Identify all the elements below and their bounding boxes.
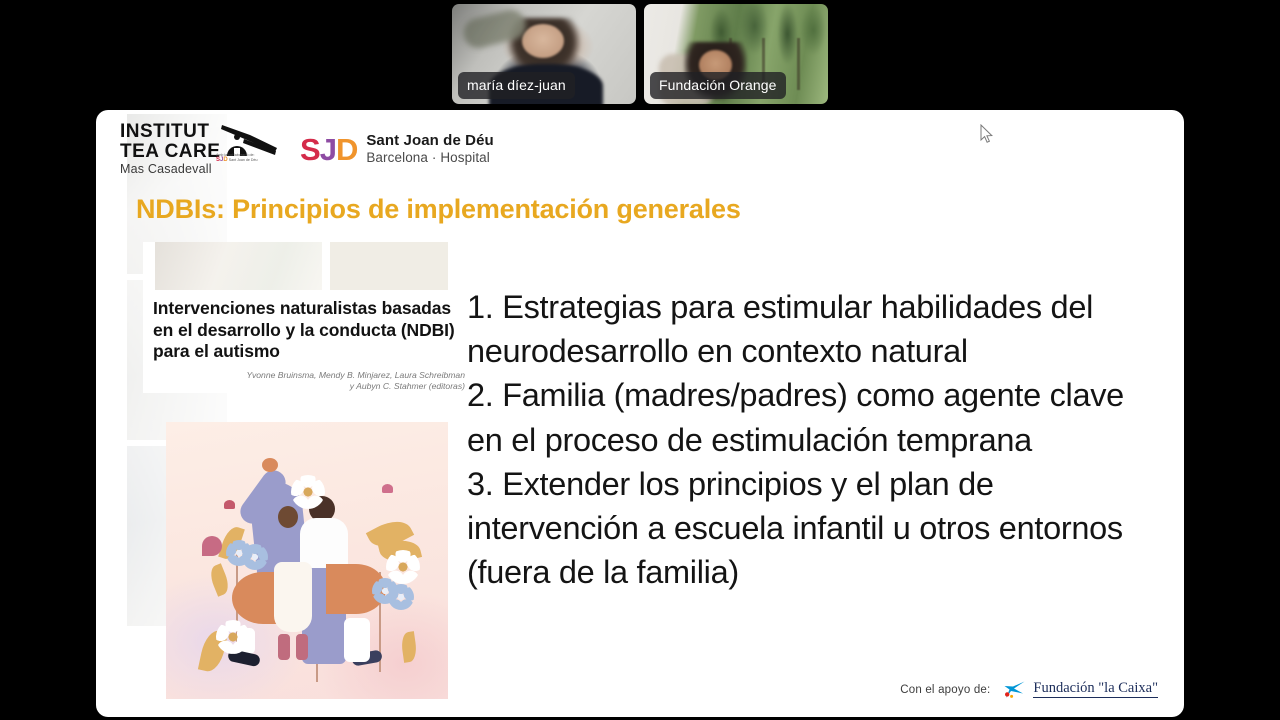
flower-icon <box>216 620 250 654</box>
caixa-star-icon <box>1003 680 1026 699</box>
book-photo-right <box>330 242 448 290</box>
caixa-wordmark: Fundación "la Caixa" <box>1033 681 1158 699</box>
flower-icon <box>291 475 325 509</box>
bullet-item-1: 1. Estrategias para estimular habilidade… <box>467 285 1155 373</box>
mouse-cursor-icon <box>980 124 994 144</box>
participant-name-label: maría díez-juan <box>458 72 575 99</box>
slide-title: NDBIs: Principios de implementación gene… <box>136 194 741 225</box>
video-tile-maria-diez-juan[interactable]: maría díez-juan <box>452 4 636 104</box>
figure-adult-right-leg-white <box>344 618 370 662</box>
book-title: Intervenciones naturalistas basadas en e… <box>143 290 469 363</box>
book-authors-line1: Yvonne Bruinsma, Mendy B. Minjarez, Laur… <box>143 370 465 382</box>
book-photo-left <box>155 242 322 290</box>
la-caixa-logo: Fundación "la Caixa" <box>1003 680 1158 699</box>
sjd-letters: SJD <box>300 134 357 165</box>
sponsor-label: Con el apoyo de: <box>900 684 990 696</box>
video-tile-fundacion-orange[interactable]: Fundación Orange <box>644 4 828 104</box>
sjd-logo-line2: Barcelona · Hospital <box>366 150 493 166</box>
figure-child-dress <box>274 562 312 632</box>
slide-bullet-list: 1. Estrategias para estimular habilidade… <box>467 285 1155 594</box>
bullet-item-2: 2. Familia (madres/padres) como agente c… <box>467 373 1155 461</box>
tree-trunk-icon <box>797 38 800 90</box>
book-cover-card: Intervenciones naturalistas basadas en e… <box>143 242 469 393</box>
participant-name-label: Fundación Orange <box>650 72 786 99</box>
book-authors-line2: y Aubyn C. Stahmer (editoras) <box>143 381 465 393</box>
tulip-icon <box>202 536 222 556</box>
institut-tea-care-logo: INSTITUT TEA CARE Mas Casadevall Amb la … <box>120 122 272 177</box>
screen: maría díez-juan Fundación Orange INSTITU… <box>0 0 1280 720</box>
sjd-hospital-logo: SJD Sant Joan de Déu Barcelona · Hospita… <box>300 133 494 165</box>
book-cover-photo-band <box>155 242 469 290</box>
butterfly-icon <box>382 484 393 493</box>
figure-adult-left-hand <box>262 458 278 472</box>
flower-icon <box>388 584 414 610</box>
slide-sponsor-footer: Con el apoyo de: Fundación "la Caixa" <box>900 680 1158 699</box>
figure-child-boot <box>278 634 290 660</box>
book-authors: Yvonne Bruinsma, Mendy B. Minjarez, Laur… <box>143 370 465 393</box>
butterfly-icon <box>224 500 235 509</box>
institut-logo-credit: Amb la col·laboració de: SJD Sant Joan d… <box>216 153 286 167</box>
tea-care-mark-icon <box>220 122 278 156</box>
flower-icon <box>242 544 268 570</box>
video-subject-face <box>522 24 564 58</box>
figure-child-boot <box>296 634 308 660</box>
slide-header-logos: INSTITUT TEA CARE Mas Casadevall Amb la … <box>120 126 494 172</box>
presentation-slide[interactable]: INSTITUT TEA CARE Mas Casadevall Amb la … <box>96 110 1184 717</box>
book-cover-illustration <box>166 422 448 699</box>
bullet-item-3: 3. Extender los principios y el plan de … <box>467 462 1155 595</box>
sjd-logo-line1: Sant Joan de Déu <box>366 133 493 150</box>
figure-child-head <box>278 506 298 528</box>
